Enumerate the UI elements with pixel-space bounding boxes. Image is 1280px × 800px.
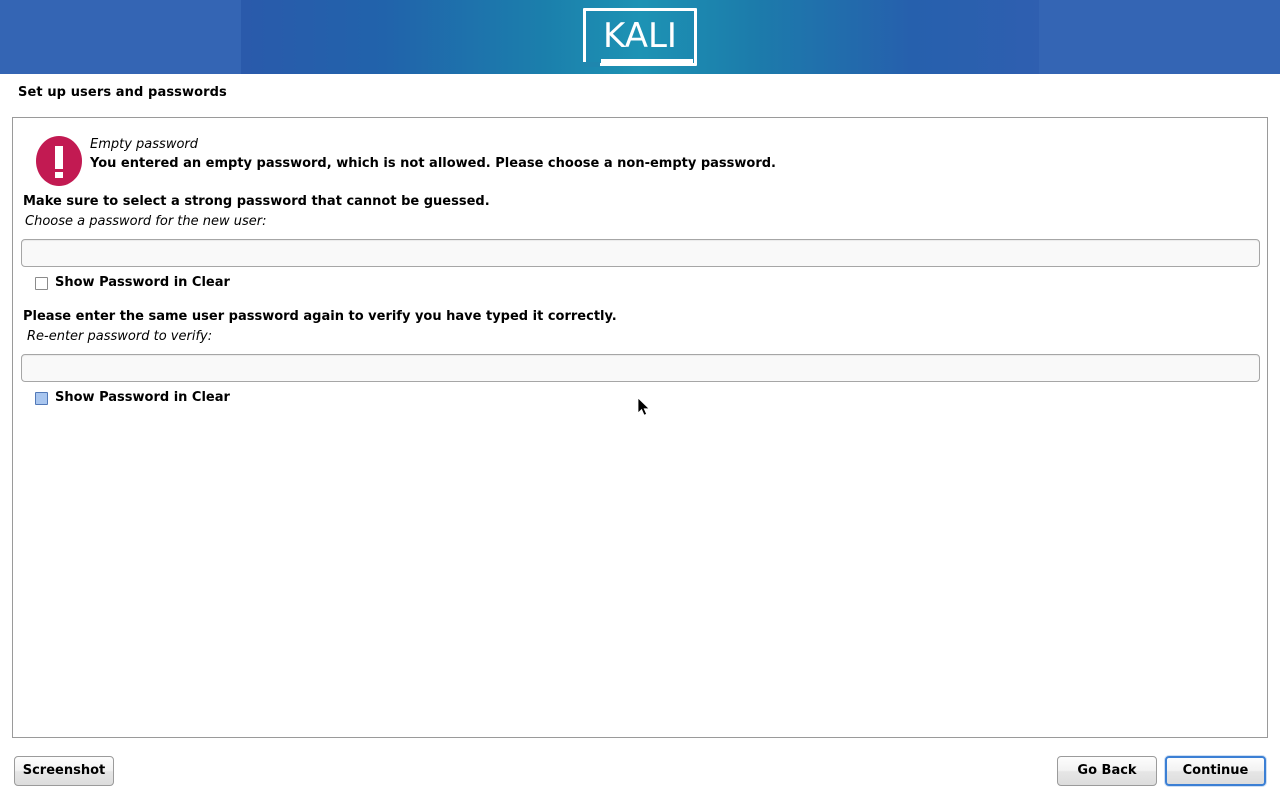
password-field-label: Choose a password for the new user: xyxy=(25,214,267,229)
show-password-label-2: Show Password in Clear xyxy=(55,390,230,405)
password-instruction: Make sure to select a strong password th… xyxy=(23,194,490,209)
show-password-label-1: Show Password in Clear xyxy=(55,275,230,290)
installer-screen: KALI Set up users and passwords Empty pa… xyxy=(0,0,1280,800)
continue-button[interactable]: Continue xyxy=(1165,756,1266,786)
kali-banner: KALI xyxy=(0,0,1280,74)
error-message: You entered an empty password, which is … xyxy=(90,156,776,171)
error-exclamation-icon xyxy=(36,136,82,186)
verify-field-label: Re-enter password to verify: xyxy=(27,329,212,344)
exclamation-bar xyxy=(55,146,63,169)
kali-logo-text: KALI xyxy=(583,8,697,66)
page-title: Set up users and passwords xyxy=(18,85,227,100)
verify-password-input[interactable] xyxy=(21,354,1260,382)
verify-instruction: Please enter the same user password agai… xyxy=(23,309,617,324)
error-banner: Empty password You entered an empty pass… xyxy=(23,127,1253,187)
show-password-checkbox-1[interactable] xyxy=(35,277,48,290)
screenshot-button[interactable]: Screenshot xyxy=(14,756,114,786)
kali-logo: KALI xyxy=(583,8,697,66)
password-input[interactable] xyxy=(21,239,1260,267)
exclamation-dot xyxy=(55,172,63,178)
error-title: Empty password xyxy=(90,137,198,152)
show-password-checkbox-2[interactable] xyxy=(35,392,48,405)
go-back-button[interactable]: Go Back xyxy=(1057,756,1157,786)
main-panel: Empty password You entered an empty pass… xyxy=(12,117,1268,738)
